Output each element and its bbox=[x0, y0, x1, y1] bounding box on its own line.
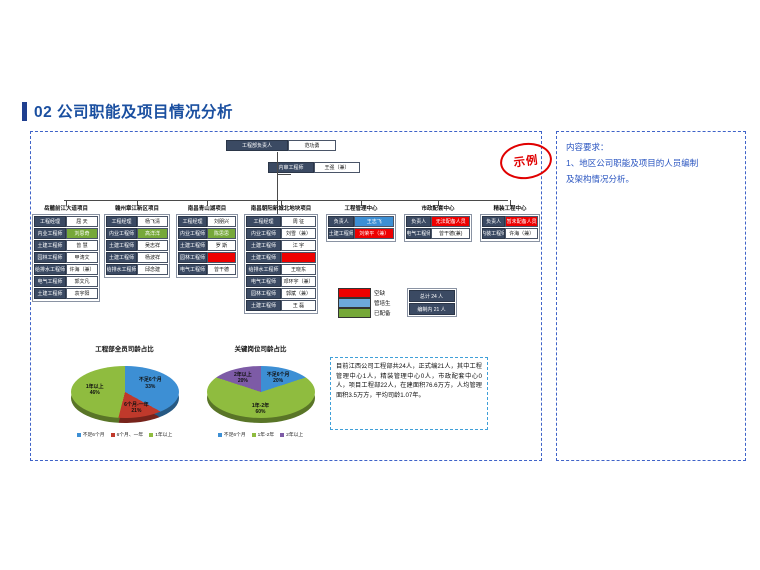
chart-legend-dot bbox=[111, 433, 115, 437]
org-person-value: 刘雪（兼） bbox=[281, 228, 316, 239]
chart-legend-dot bbox=[149, 433, 153, 437]
org-role-label: 土建工程师 bbox=[34, 288, 66, 299]
org-person-value: 许海（兼） bbox=[66, 264, 98, 275]
org-role-label: 土建工程师 bbox=[106, 240, 137, 251]
org-row: 土建工程师吴志祥 bbox=[106, 240, 168, 251]
org-role-label: 土建工程师 bbox=[246, 252, 281, 263]
org-connector-horizontal bbox=[64, 200, 508, 201]
org-person-value: 曾 慧 bbox=[66, 240, 98, 251]
legend-swatch-row: 已配备 bbox=[338, 308, 391, 318]
org-node-top: 工程部负责人 范功勇 bbox=[226, 140, 336, 152]
org-row: 工程经理刘朋兴 bbox=[178, 216, 236, 227]
org-role-label: 土建工程师 bbox=[246, 240, 281, 251]
org-row: 内审工程师 王强（兼） bbox=[268, 162, 360, 173]
org-person-value: 郭文凡 bbox=[66, 276, 98, 287]
requirements-item-1: 1、地区公司职能及项目的人员编制 bbox=[566, 156, 738, 170]
chart-legend: 不足6个月6个月、一年1年以上 bbox=[52, 431, 197, 438]
chart-legend-item: 不足6个月 bbox=[218, 431, 246, 438]
org-role-label: 内业工程师 bbox=[246, 228, 281, 239]
org-row: 负责人无法配备人员 bbox=[406, 216, 470, 227]
org-role-label: 土建工程师 bbox=[34, 240, 66, 251]
org-person-value bbox=[207, 252, 236, 263]
org-row: 园林工程师 bbox=[178, 252, 236, 263]
pie-chart-tenure-key: 关键岗位司龄占比不足6个月20%1年-2年60%2年以上20%不足6个月1年-2… bbox=[188, 343, 333, 438]
org-column-header: 南昌朝阳新城北地块项目 bbox=[244, 204, 318, 212]
org-person-value: 邓环宇（兼） bbox=[281, 276, 316, 287]
org-column: 南昌青山湖项目工程经理刘朋兴内业工程师陈思思土建工程师罗 斯园林工程师电气工程师… bbox=[176, 204, 238, 278]
chart-title: 关键岗位司龄占比 bbox=[188, 343, 333, 353]
org-node-top-label: 工程部负责人 bbox=[226, 140, 288, 151]
chart-legend-dot bbox=[77, 433, 81, 437]
page-title: 02 公司职能及项目情况分析 bbox=[22, 100, 233, 122]
org-row: 给排水工程师邱念建 bbox=[106, 264, 168, 275]
legend-swatch-label: 已配备 bbox=[374, 309, 391, 317]
org-row: 土建工程师罗 斯 bbox=[178, 240, 236, 251]
org-role-label: 园林工程师 bbox=[34, 252, 66, 263]
legend-color-swatch bbox=[338, 298, 371, 308]
org-person-value: 吴志祥 bbox=[137, 240, 168, 251]
legend-swatch-label: 空缺 bbox=[374, 289, 385, 297]
org-role-label: 工程经理 bbox=[246, 216, 281, 227]
org-row: 负责人暂未配备人员 bbox=[482, 216, 538, 227]
org-chart: 工程部负责人 范功勇 内审工程师 王强（兼） 岳麓前江大道项目工程经理屈 天内业… bbox=[30, 136, 542, 326]
chart-legend-item: 6个月、一年 bbox=[111, 431, 144, 438]
org-person-value: 王晓东 bbox=[281, 264, 316, 275]
summary-textbox: 目前江西公司工程部共24人，正式编21人，其中工程管理中心1人，精装管理中心0人… bbox=[330, 357, 488, 430]
org-row: 电气工程师曾干德(兼) bbox=[406, 228, 470, 239]
org-role-label: 负责人 bbox=[482, 216, 505, 227]
org-column-body: 工程经理屈 天内业工程师刘思奇土建工程师曾 慧园林工程师甲涛文给排水工程师许海（… bbox=[32, 214, 100, 302]
legend-swatch-label: 管培生 bbox=[374, 299, 391, 307]
org-row: 园林工程师郭斌（兼） bbox=[246, 288, 316, 299]
org-person-value: 江 宇 bbox=[281, 240, 316, 251]
org-person-value: 曾干德 bbox=[207, 264, 236, 275]
org-person-value: 暂未配备人员 bbox=[505, 216, 538, 227]
org-role-label: 工程经理 bbox=[178, 216, 207, 227]
legend-totals-box: 总计 24 人编制内 21 人 bbox=[407, 288, 457, 317]
org-person-value: 王志飞 bbox=[354, 216, 394, 227]
org-node-second-label: 内审工程师 bbox=[268, 162, 314, 173]
org-role-label: 电气工程师 bbox=[34, 276, 66, 287]
org-role-label: 园林工程师 bbox=[246, 288, 281, 299]
org-person-value: 高洋洋 bbox=[137, 228, 168, 239]
org-row: 内业工程师刘雪（兼） bbox=[246, 228, 316, 239]
org-row: 土建工程师江 宇 bbox=[246, 240, 316, 251]
org-row: 土建工程师王 磊 bbox=[246, 300, 316, 311]
pie-stage: 不足6个月33%6个月-一年21%1年以上46% bbox=[65, 356, 185, 428]
org-column: 工程管理中心负责人王志飞土建工程师刘荣平（兼） bbox=[326, 204, 396, 242]
org-column: 市政配套中心负责人无法配备人员电气工程师曾干德(兼) bbox=[404, 204, 472, 242]
org-column-body: 负责人无法配备人员电气工程师曾干德(兼) bbox=[404, 214, 472, 242]
pie-slice-label: 6个月-一年21% bbox=[114, 402, 158, 415]
legend-swatch-row: 空缺 bbox=[338, 288, 391, 298]
org-person-value: 刘朋兴 bbox=[207, 216, 236, 227]
org-role-label: 土建工程师 bbox=[178, 240, 207, 251]
org-role-label: 电气工程师 bbox=[178, 264, 207, 275]
chart-legend-text: 1年以上 bbox=[155, 431, 172, 438]
org-person-value bbox=[281, 252, 316, 263]
org-role-label: 土建工程师 bbox=[328, 228, 354, 239]
chart-legend-text: 不足6个月 bbox=[83, 431, 105, 438]
org-row: 园林工程师甲涛文 bbox=[34, 252, 98, 263]
org-column-body: 工程经理周 征内业工程师刘雪（兼）土建工程师江 宇土建工程师给排水工程师王晓东电… bbox=[244, 214, 318, 314]
org-row: 负责人王志飞 bbox=[328, 216, 394, 227]
org-row: 内业工程师陈思思 bbox=[178, 228, 236, 239]
org-column: 赣州章江新区项目工程经理杨飞清内业工程师高洋洋土建工程师吴志祥土建工程师杨波祥给… bbox=[104, 204, 170, 278]
chart-legend-item: 不足6个月 bbox=[77, 431, 105, 438]
legend-total-cell: 编制内 21 人 bbox=[409, 303, 455, 315]
org-role-label: 内装工程师 bbox=[482, 228, 505, 239]
org-column-body: 工程经理刘朋兴内业工程师陈思思土建工程师罗 斯园林工程师电气工程师曾干德 bbox=[176, 214, 238, 278]
org-row: 工程经理屈 天 bbox=[34, 216, 98, 227]
chart-legend-text: 1年-2年 bbox=[258, 431, 275, 438]
org-role-label: 内业工程师 bbox=[34, 228, 66, 239]
org-column: 精装工程中心负责人暂未配备人员内装工程师许海（兼） bbox=[480, 204, 540, 242]
legend-color-swatch bbox=[338, 288, 371, 298]
org-legend: 空缺管培生已配备 总计 24 人编制内 21 人 bbox=[338, 288, 457, 318]
legend-color-swatch bbox=[338, 308, 371, 318]
org-person-value: 杨飞清 bbox=[137, 216, 168, 227]
chart-legend-text: 6个月、一年 bbox=[117, 431, 144, 438]
requirements-text: 内容要求： 1、地区公司职能及项目的人员编制 及架构情况分析。 bbox=[566, 140, 738, 188]
chart-title: 工程部全员司龄占比 bbox=[52, 343, 197, 353]
org-role-label: 工程经理 bbox=[34, 216, 66, 227]
org-column: 岳麓前江大道项目工程经理屈 天内业工程师刘思奇土建工程师曾 慧园林工程师甲涛文给… bbox=[32, 204, 100, 302]
org-person-value: 邱念建 bbox=[137, 264, 168, 275]
org-row: 工程经理周 征 bbox=[246, 216, 316, 227]
org-person-value: 罗 斯 bbox=[207, 240, 236, 251]
org-person-value: 曾干德(兼) bbox=[431, 228, 470, 239]
org-person-value: 郭斌（兼） bbox=[281, 288, 316, 299]
legend-swatch-row: 管培生 bbox=[338, 298, 391, 308]
title-accent-bar bbox=[22, 102, 27, 121]
org-person-value: 王 磊 bbox=[281, 300, 316, 311]
chart-legend-dot bbox=[218, 433, 222, 437]
org-column-body: 负责人暂未配备人员内装工程师许海（兼） bbox=[480, 214, 540, 242]
summary-text: 目前江西公司工程部共24人，正式编21人，其中工程管理中心1人，精装管理中心0人… bbox=[336, 362, 482, 400]
org-node-second-value: 王强（兼） bbox=[314, 162, 360, 173]
org-row: 电气工程师郭文凡 bbox=[34, 276, 98, 287]
pie-stage: 不足6个月20%1年-2年60%2年以上20% bbox=[201, 356, 321, 428]
org-row: 内业工程师高洋洋 bbox=[106, 228, 168, 239]
pie-slice-label: 2年以上20% bbox=[221, 372, 265, 385]
org-column-header: 工程管理中心 bbox=[326, 204, 396, 212]
org-row: 工程部负责人 范功勇 bbox=[226, 140, 336, 151]
org-person-value: 陈思思 bbox=[207, 228, 236, 239]
chart-legend-dot bbox=[280, 433, 284, 437]
org-row: 电气工程师邓环宇（兼） bbox=[246, 276, 316, 287]
chart-legend-dot bbox=[252, 433, 256, 437]
org-node-top-value: 范功勇 bbox=[288, 140, 336, 151]
org-person-value: 杨波祥 bbox=[137, 252, 168, 263]
requirements-heading: 内容要求： bbox=[566, 140, 738, 154]
org-role-label: 内业工程师 bbox=[106, 228, 137, 239]
org-role-label: 内业工程师 bbox=[178, 228, 207, 239]
org-column-body: 负责人王志飞土建工程师刘荣平（兼） bbox=[326, 214, 396, 242]
org-role-label: 负责人 bbox=[328, 216, 354, 227]
org-role-label: 工程经理 bbox=[106, 216, 137, 227]
title-text: 02 公司职能及项目情况分析 bbox=[34, 100, 233, 122]
org-person-value: 无法配备人员 bbox=[431, 216, 470, 227]
org-role-label: 园林工程师 bbox=[178, 252, 207, 263]
pie-slice-label: 1年以上46% bbox=[73, 384, 117, 397]
org-row: 土建工程师刘荣平（兼） bbox=[328, 228, 394, 239]
org-row: 内业工程师刘思奇 bbox=[34, 228, 98, 239]
chart-legend-item: 1年以上 bbox=[149, 431, 172, 438]
org-row: 给排水工程师许海（兼） bbox=[34, 264, 98, 275]
org-column-body: 工程经理杨飞清内业工程师高洋洋土建工程师吴志祥土建工程师杨波祥给排水工程师邱念建 bbox=[104, 214, 170, 278]
org-row: 土建工程师 bbox=[246, 252, 316, 263]
chart-legend: 不足6个月1年-2年2年以上 bbox=[188, 431, 333, 438]
org-row: 内装工程师许海（兼） bbox=[482, 228, 538, 239]
org-row: 电气工程师曾干德 bbox=[178, 264, 236, 275]
org-role-label: 给排水工程师 bbox=[34, 264, 66, 275]
pie-slice-label: 1年-2年60% bbox=[239, 403, 283, 416]
org-column-header: 南昌青山湖项目 bbox=[176, 204, 238, 212]
org-person-value: 刘思奇 bbox=[66, 228, 98, 239]
chart-legend-text: 不足6个月 bbox=[224, 431, 246, 438]
org-person-value: 周 征 bbox=[281, 216, 316, 227]
org-column-header: 市政配套中心 bbox=[404, 204, 472, 212]
chart-legend-item: 2年以上 bbox=[280, 431, 303, 438]
legend-swatch-list: 空缺管培生已配备 bbox=[338, 288, 391, 318]
org-column-header: 精装工程中心 bbox=[480, 204, 540, 212]
org-role-label: 电气工程师 bbox=[406, 228, 431, 239]
org-person-value: 袁宇阳 bbox=[66, 288, 98, 299]
pie-chart-tenure-all: 工程部全员司龄占比不足6个月33%6个月-一年21%1年以上46%不足6个月6个… bbox=[52, 343, 197, 438]
org-role-label: 土建工程师 bbox=[106, 252, 137, 263]
org-person-value: 许海（兼） bbox=[505, 228, 538, 239]
org-role-label: 给排水工程师 bbox=[106, 264, 137, 275]
org-column-header: 岳麓前江大道项目 bbox=[32, 204, 100, 212]
org-column: 南昌朝阳新城北地块项目工程经理周 征内业工程师刘雪（兼）土建工程师江 宇土建工程… bbox=[244, 204, 318, 314]
requirements-item-2: 及架构情况分析。 bbox=[566, 172, 738, 186]
org-row: 给排水工程师王晓东 bbox=[246, 264, 316, 275]
org-row: 工程经理杨飞清 bbox=[106, 216, 168, 227]
pie-slice-label: 不足6个月33% bbox=[128, 377, 172, 390]
org-row: 土建工程师杨波祥 bbox=[106, 252, 168, 263]
legend-total-cell: 总计 24 人 bbox=[409, 290, 455, 302]
chart-legend-text: 2年以上 bbox=[286, 431, 303, 438]
org-role-label: 电气工程师 bbox=[246, 276, 281, 287]
org-connector-second bbox=[277, 174, 291, 175]
chart-legend-item: 1年-2年 bbox=[252, 431, 275, 438]
org-person-value: 甲涛文 bbox=[66, 252, 98, 263]
org-role-label: 负责人 bbox=[406, 216, 431, 227]
org-row: 土建工程师曾 慧 bbox=[34, 240, 98, 251]
org-role-label: 土建工程师 bbox=[246, 300, 281, 311]
org-row: 土建工程师袁宇阳 bbox=[34, 288, 98, 299]
slide-canvas: 02 公司职能及项目情况分析 内容要求： 1、地区公司职能及项目的人员编制 及架… bbox=[0, 0, 760, 570]
org-person-value: 屈 天 bbox=[66, 216, 98, 227]
org-person-value: 刘荣平（兼） bbox=[354, 228, 394, 239]
org-column-header: 赣州章江新区项目 bbox=[104, 204, 170, 212]
org-role-label: 给排水工程师 bbox=[246, 264, 281, 275]
org-node-second: 内审工程师 王强（兼） bbox=[268, 162, 360, 174]
